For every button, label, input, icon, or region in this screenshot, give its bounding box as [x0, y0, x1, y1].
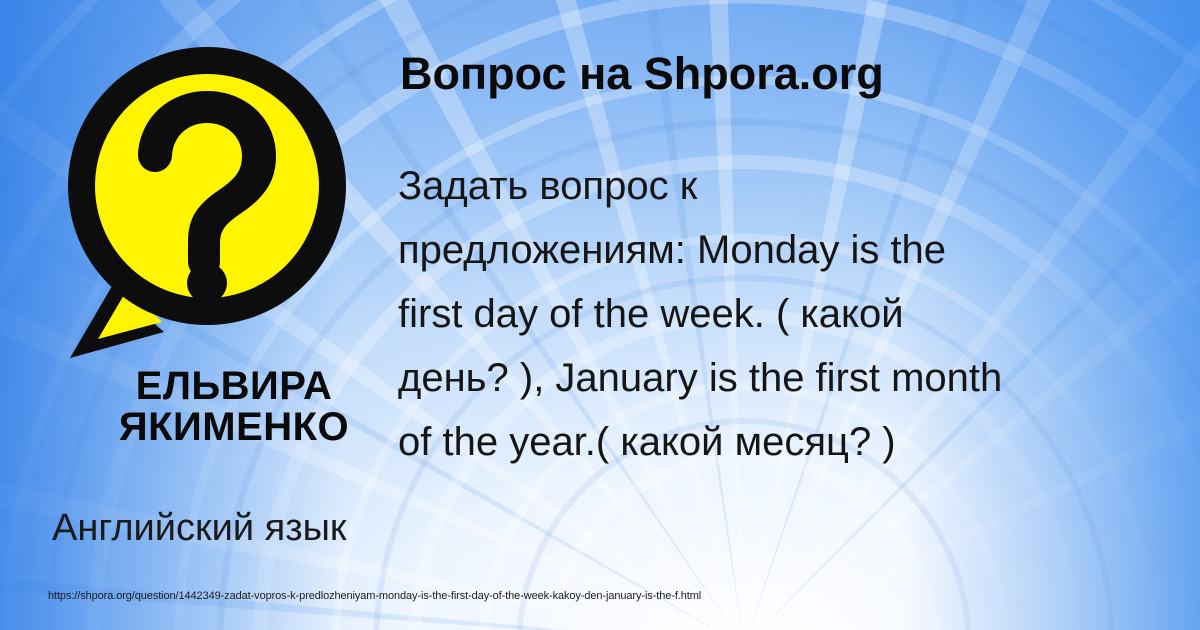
question-speech-bubble-icon: [52, 36, 362, 366]
question-line: of the year.( какой месяц? ): [398, 410, 1200, 474]
question-share-card: Вопрос на Shpora.org Задать вопрос к пре…: [0, 0, 1200, 630]
author-name-line: ЯКИМЕНКО: [44, 407, 424, 448]
page-title: Вопрос на Shpora.org: [400, 48, 884, 100]
question-line: first day of the week. ( какой: [398, 282, 1200, 346]
question-text: Задать вопрос к предложениям: Monday is …: [398, 154, 1200, 474]
question-line: предложениям: Monday is the: [398, 218, 1200, 282]
subject-label: Английский язык: [52, 508, 347, 550]
source-url[interactable]: https://shpora.org/question/1442349-zada…: [48, 590, 701, 602]
author-name-line: ЕЛЬВИРА: [44, 366, 424, 407]
author-name: ЕЛЬВИРА ЯКИМЕНКО: [44, 366, 424, 448]
question-line: день? ), January is the first month: [398, 346, 1200, 410]
question-line: Задать вопрос к: [398, 154, 1200, 218]
